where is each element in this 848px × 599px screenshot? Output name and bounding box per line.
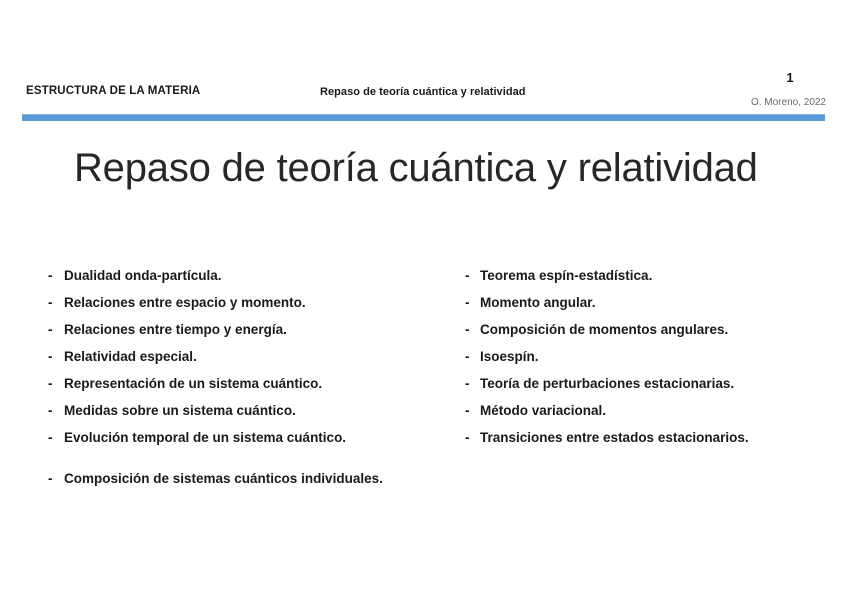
list-item-label: Medidas sobre un sistema cuántico. <box>64 403 448 418</box>
list-item: - Composición de sistemas cuánticos indi… <box>48 471 448 498</box>
list-item-label: Representación de un sistema cuántico. <box>64 376 448 391</box>
list-item: - Método variacional. <box>465 403 835 430</box>
bullet-dash-icon: - <box>48 430 64 445</box>
bullet-dash-icon: - <box>465 403 480 418</box>
list-item: - Dualidad onda-partícula. <box>48 268 448 295</box>
list-item-label: Composición de momentos angulares. <box>480 322 835 337</box>
list-item-label: Relaciones entre tiempo y energía. <box>64 322 448 337</box>
bullet-dash-icon: - <box>48 376 64 391</box>
bullet-list-right: - Teorema espín-estadística. - Momento a… <box>465 268 835 457</box>
bullet-dash-icon: - <box>48 471 64 486</box>
bullet-dash-icon: - <box>465 376 480 391</box>
list-item: - Composición de momentos angulares. <box>465 322 835 349</box>
list-item-label: Momento angular. <box>480 295 835 310</box>
presentation-slide: ESTRUCTURA DE LA MATERIA Repaso de teorí… <box>0 0 848 599</box>
list-item: - Relatividad especial. <box>48 349 448 376</box>
slide-header: ESTRUCTURA DE LA MATERIA Repaso de teorí… <box>0 0 848 124</box>
list-item: - Representación de un sistema cuántico. <box>48 376 448 403</box>
list-item: - Isoespín. <box>465 349 835 376</box>
list-item-label: Transiciones entre estados estacionarios… <box>480 430 835 445</box>
list-item-label: Teorema espín-estadística. <box>480 268 835 283</box>
list-item: - Relaciones entre espacio y momento. <box>48 295 448 322</box>
bullet-dash-icon: - <box>48 322 64 337</box>
bullet-dash-icon: - <box>48 268 64 283</box>
header-author-credit: O. Moreno, 2022 <box>640 97 826 108</box>
header-divider-rule <box>22 114 825 121</box>
bullet-dash-icon: - <box>48 349 64 364</box>
bullet-dash-icon: - <box>465 322 480 337</box>
slide-title: Repaso de teoría cuántica y relatividad <box>74 146 758 191</box>
list-item-label: Método variacional. <box>480 403 835 418</box>
list-item-label: Relatividad especial. <box>64 349 448 364</box>
header-course-title: ESTRUCTURA DE LA MATERIA <box>26 85 200 97</box>
list-item-label: Dualidad onda-partícula. <box>64 268 448 283</box>
list-item: - Relaciones entre tiempo y energía. <box>48 322 448 349</box>
slide-page-number: 1 <box>760 70 820 85</box>
list-item: - Teoría de perturbaciones estacionarias… <box>465 376 835 403</box>
list-item: - Teorema espín-estadística. <box>465 268 835 295</box>
bullet-dash-icon: - <box>48 295 64 310</box>
bullet-dash-icon: - <box>465 349 480 364</box>
list-item-label: Isoespín. <box>480 349 835 364</box>
list-item-label: Teoría de perturbaciones estacionarias. <box>480 376 835 391</box>
list-item: - Medidas sobre un sistema cuántico. <box>48 403 448 430</box>
bullet-dash-icon: - <box>48 403 64 418</box>
list-item: - Evolución temporal de un sistema cuánt… <box>48 430 448 457</box>
bullet-dash-icon: - <box>465 295 480 310</box>
list-item-label: Evolución temporal de un sistema cuántic… <box>64 430 448 445</box>
bullet-dash-icon: - <box>465 430 480 445</box>
list-item-label: Composición de sistemas cuánticos indivi… <box>64 471 448 486</box>
bullet-list-left: - Dualidad onda-partícula. - Relaciones … <box>48 268 448 498</box>
header-subject-title: Repaso de teoría cuántica y relatividad <box>320 86 526 98</box>
list-item-label: Relaciones entre espacio y momento. <box>64 295 448 310</box>
bullet-dash-icon: - <box>465 268 480 283</box>
list-item: - Transiciones entre estados estacionari… <box>465 430 835 457</box>
list-item: - Momento angular. <box>465 295 835 322</box>
